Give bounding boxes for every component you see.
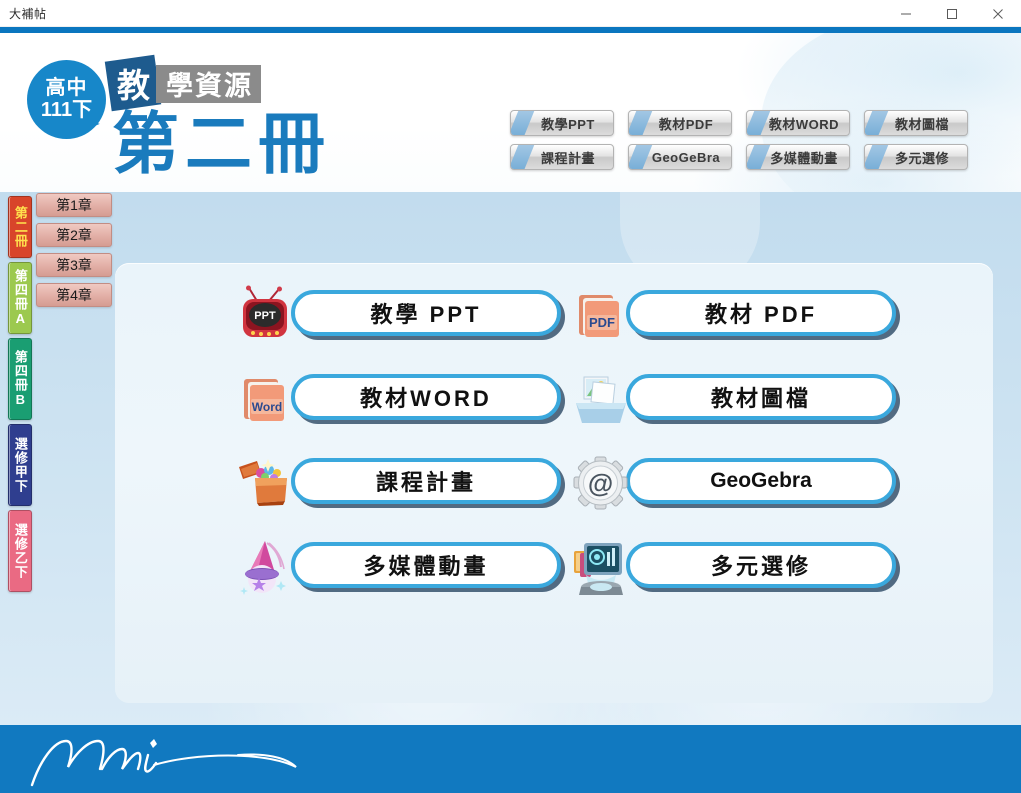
minimize-icon[interactable]	[883, 0, 929, 27]
topnav-label: 多媒體動畫	[758, 148, 838, 167]
topnav-elective[interactable]: 多元選修	[864, 144, 968, 170]
svg-text:PDF: PDF	[589, 315, 615, 330]
window-title: 大補帖	[9, 5, 47, 22]
topnav-plan[interactable]: 課程計畫	[510, 144, 614, 170]
topnav-label: 教學PPT	[529, 114, 595, 133]
topnav-label: 課程計畫	[529, 148, 595, 167]
volume-tab-label: 第二冊	[13, 206, 27, 248]
item-label: 課程計畫	[376, 465, 476, 497]
svg-text:@: @	[588, 468, 613, 498]
top-navigation-row-1: 教學PPT 教材PDF 教材WORD 教材圖檔	[510, 110, 990, 136]
item-label: 多元選修	[711, 549, 811, 581]
chapter-button-2[interactable]: 第2章	[36, 223, 112, 247]
svg-text:Word: Word	[252, 400, 282, 414]
badge-line-2: 111下	[41, 100, 92, 122]
item-elective[interactable]: 多元選修	[570, 537, 910, 599]
topnav-animation[interactable]: 多媒體動畫	[746, 144, 850, 170]
chapter-button-3[interactable]: 第3章	[36, 253, 112, 277]
item-pill: 多媒體動畫	[291, 542, 561, 588]
item-label: 教學 PPT	[371, 297, 482, 329]
top-navigation: 教學PPT 教材PDF 教材WORD 教材圖檔 課程計畫	[510, 110, 990, 178]
chapter-list: 第1章 第2章 第3章 第4章	[36, 193, 112, 313]
item-teaching-ppt[interactable]: 教學 PPT PPT	[235, 285, 575, 347]
item-pill: GeoGebra	[626, 458, 896, 504]
topnav-images[interactable]: 教材圖檔	[864, 110, 968, 136]
topnav-ppt[interactable]: 教學PPT	[510, 110, 614, 136]
sidebar-item-elective-b[interactable]: 選修乙下	[8, 510, 32, 592]
gear-at-icon: @	[570, 453, 632, 515]
topnav-label: 多元選修	[883, 148, 949, 167]
logo-subtitle-text: 學資源	[166, 64, 253, 103]
treasure-box-icon	[235, 453, 297, 515]
item-label: 教材圖檔	[711, 381, 811, 413]
logo-jiao-text: 教	[117, 59, 150, 107]
item-pill: 教材圖檔	[626, 374, 896, 420]
magic-hat-icon	[235, 537, 297, 599]
item-pill: 教學 PPT	[291, 290, 561, 336]
ppt-tv-icon: PPT	[235, 285, 297, 347]
header: 高中 111下 教 學資源 第二冊 教學PPT 教材PDF 教材	[0, 33, 1021, 192]
topnav-label: 教材WORD	[757, 114, 839, 133]
page-title: 第二冊	[112, 111, 331, 178]
volume-tab-label: 第四冊A	[13, 269, 27, 327]
topnav-geogebra[interactable]: GeoGeBra	[628, 144, 732, 170]
sidebar-item-elective-a[interactable]: 選修甲下	[8, 424, 32, 506]
chapter-button-1[interactable]: 第1章	[36, 193, 112, 217]
image-tray-icon	[570, 369, 632, 431]
item-label: 多媒體動畫	[363, 549, 488, 581]
maximize-icon[interactable]	[929, 0, 975, 27]
item-material-images[interactable]: 教材圖檔	[570, 369, 910, 431]
word-folder-icon: Word	[235, 369, 297, 431]
window-controls	[883, 0, 1021, 27]
volume-tab-label: 第四冊B	[13, 350, 27, 408]
logo-jiao-tile: 教	[105, 55, 161, 111]
title-bar: 大補帖	[0, 0, 1021, 27]
volume-tab-label: 選修甲下	[13, 437, 27, 493]
item-course-plan[interactable]: 課程計畫	[235, 453, 575, 515]
application-window: 大補帖 高中 111下 教 學資源 第二冊	[0, 0, 1021, 793]
monitor-chart-icon	[570, 537, 632, 599]
volume-tab-list: 第二冊 第四冊A 第四冊B 選修甲下 選修乙下	[8, 196, 32, 596]
item-pill: 課程計畫	[291, 458, 561, 504]
item-material-pdf[interactable]: 教材 PDF PDF	[570, 285, 910, 347]
topnav-label: 教材PDF	[647, 114, 714, 133]
volume-tab-label: 選修乙下	[13, 523, 27, 579]
item-pill: 教材WORD	[291, 374, 561, 420]
topnav-label: GeoGeBra	[640, 150, 720, 165]
brand-logo	[24, 731, 324, 787]
item-multimedia[interactable]: 多媒體動畫	[235, 537, 575, 599]
item-material-word[interactable]: 教材WORD Word	[235, 369, 575, 431]
footer: 建議使用office 2007 以上版本 服務中心 回首頁	[0, 725, 1021, 793]
chapter-button-4[interactable]: 第4章	[36, 283, 112, 307]
close-icon[interactable]	[975, 0, 1021, 27]
content-area: 第二冊 第四冊A 第四冊B 選修甲下 選修乙下 第1章 第2章 第3章 第4章	[0, 192, 1021, 725]
logo-subtitle-bar: 學資源	[156, 65, 261, 103]
sidebar-item-volume-4b[interactable]: 第四冊B	[8, 338, 32, 420]
item-geogebra[interactable]: GeoGebra	[570, 453, 910, 515]
item-label: 教材 PDF	[705, 297, 817, 329]
main-panel: 教學 PPT PPT	[115, 263, 993, 703]
grade-badge: 高中 111下	[27, 60, 106, 139]
topnav-word[interactable]: 教材WORD	[746, 110, 850, 136]
svg-text:PPT: PPT	[254, 310, 276, 322]
item-pill: 多元選修	[626, 542, 896, 588]
sidebar-item-volume-4a[interactable]: 第四冊A	[8, 262, 32, 334]
resource-grid: 教學 PPT PPT	[115, 263, 993, 703]
pdf-folder-icon: PDF	[570, 285, 632, 347]
item-pill: 教材 PDF	[626, 290, 896, 336]
sidebar-item-volume-2[interactable]: 第二冊	[8, 196, 32, 258]
topnav-pdf[interactable]: 教材PDF	[628, 110, 732, 136]
item-label: 教材WORD	[360, 381, 492, 413]
topnav-label: 教材圖檔	[883, 114, 949, 133]
item-label: GeoGebra	[710, 469, 812, 493]
top-navigation-row-2: 課程計畫 GeoGeBra 多媒體動畫 多元選修	[510, 144, 990, 170]
badge-line-1: 高中	[46, 78, 88, 100]
